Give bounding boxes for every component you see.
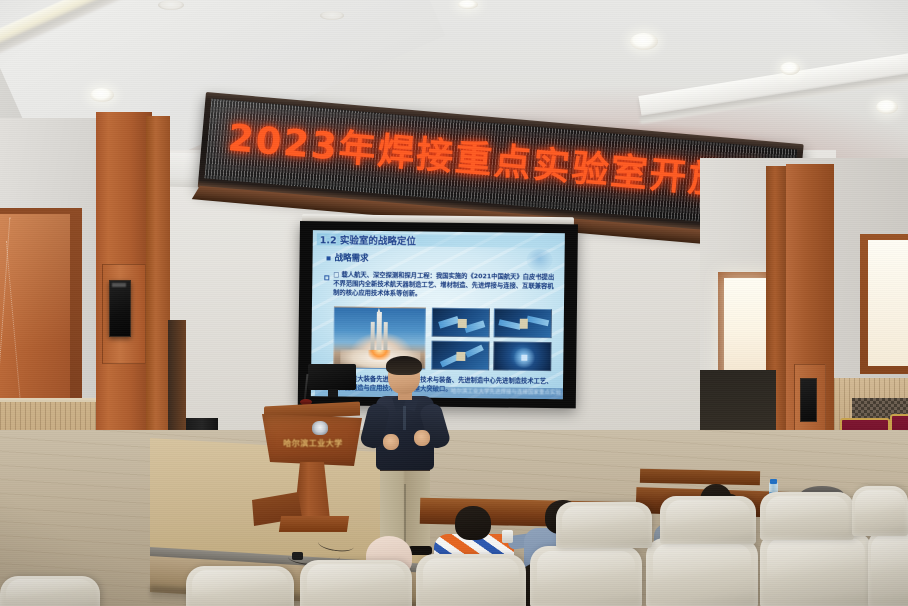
slide-bottom-strip-text: 哈尔滨工业大学先进焊接与连接国家重点实验室 [451,387,561,399]
slide-title: 1.2 实验室的战略定位 [320,232,520,247]
ceiling-downlight-icon [320,11,344,20]
university-emblem-icon [312,421,328,435]
presenter-speaker [356,358,454,558]
theater-seat[interactable] [0,576,100,606]
window-far-right [868,240,908,366]
slide-sub-bullet-marker [324,275,329,280]
theater-seat[interactable] [760,492,854,540]
audience-child-head [455,506,491,540]
podium-monitor [308,364,356,390]
ceiling-downlight-icon [876,100,898,114]
theater-seat[interactable] [300,560,412,606]
theater-seat[interactable] [416,554,526,606]
presenter-hand-left [383,434,399,450]
podium-monitor-stand [328,389,338,397]
slide-image-satellite-4 [493,341,551,371]
audience-desk-far [640,469,760,486]
presenter-shirt-placket [403,406,406,430]
rocket-body [376,312,381,352]
theater-seat[interactable] [530,546,642,606]
presenter-leg-seam [404,484,406,548]
lecture-hall-photo: 2023年焊接重点实验室开放日 1.2 实验室的战略定位 战略需求 □ 载人航天… [0,0,908,606]
slide-image-satellite-1 [432,308,490,338]
presenter-hand-right [414,430,430,446]
ceiling-downlight-icon [90,88,114,102]
presenter-glasses-icon [390,371,418,378]
water-bottle-cap [770,479,777,484]
theater-seat[interactable] [868,528,908,606]
ceiling-downlight-icon [780,62,800,75]
wall-speaker-right [800,378,817,422]
theater-seat[interactable] [660,496,756,544]
theater-seat[interactable] [646,538,758,606]
podium-organization-text: 哈尔滨工业大学 [270,438,356,450]
theater-seat[interactable] [556,502,652,548]
wall-speaker-left [109,280,131,337]
theater-seat[interactable] [852,486,908,536]
slide-image-satellite-2 [494,308,552,338]
lectern-podium: 哈尔滨工业大学 [256,404,366,564]
rocket-booster-left [370,322,374,352]
slide-logo-icon [526,249,552,271]
rocket-booster-right [383,322,387,352]
rocket-nose-cone [377,308,381,314]
ceiling-downlight-icon [458,0,478,9]
slide-body-text: □ 载人航天、深空探测和探月工程：我国实施的《2021中国航天》白皮书提出不界范… [333,270,557,300]
theater-seat[interactable] [186,566,294,606]
speaker-logo [112,283,126,287]
theater-seat[interactable] [760,532,872,606]
slide-bullet-heading: 战略需求 [334,251,368,263]
paper-cup[interactable] [502,530,513,543]
ceiling-downlight-icon [158,0,184,10]
podium-base [279,516,349,532]
slide-bullet-marker [327,256,331,260]
ceiling-downlight-icon [630,33,658,50]
